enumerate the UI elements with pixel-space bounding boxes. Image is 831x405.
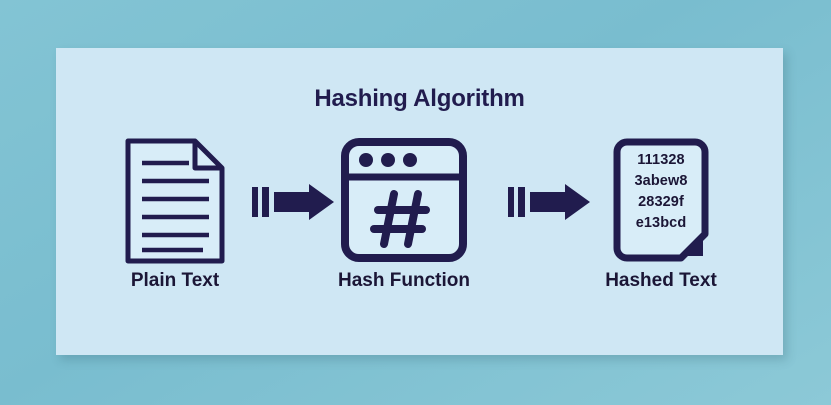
- stage-hash-function: [329, 136, 479, 266]
- stage-hashed-text: 111328 3abew8 28329f e13bcd: [586, 136, 736, 266]
- right-arrow-icon: [252, 184, 334, 220]
- hash-line: e13bcd: [615, 213, 707, 234]
- stage-plain-text: [100, 136, 250, 266]
- document-icon: [123, 136, 227, 266]
- hash-line: 3abew8: [615, 171, 707, 192]
- right-arrow-icon: [508, 184, 590, 220]
- stage-label-hash-function: Hash Function: [329, 270, 479, 292]
- hashed-document-icon: 111328 3abew8 28329f e13bcd: [611, 136, 711, 264]
- stage-label-hashed-text: Hashed Text: [586, 270, 736, 292]
- hash-line: 28329f: [615, 192, 707, 213]
- hash-line: 111328: [615, 150, 707, 171]
- window-dots-icon: [359, 153, 417, 167]
- hash-window-icon: [340, 136, 468, 264]
- diagram-canvas: Hashing Algorithm: [0, 0, 831, 405]
- hash-output-lines: 111328 3abew8 28329f e13bcd: [615, 150, 707, 234]
- process-flow-row: 111328 3abew8 28329f e13bcd: [56, 136, 783, 266]
- stage-label-plain-text: Plain Text: [100, 270, 250, 292]
- diagram-panel: Hashing Algorithm: [56, 48, 783, 355]
- page-title: Hashing Algorithm: [56, 85, 783, 113]
